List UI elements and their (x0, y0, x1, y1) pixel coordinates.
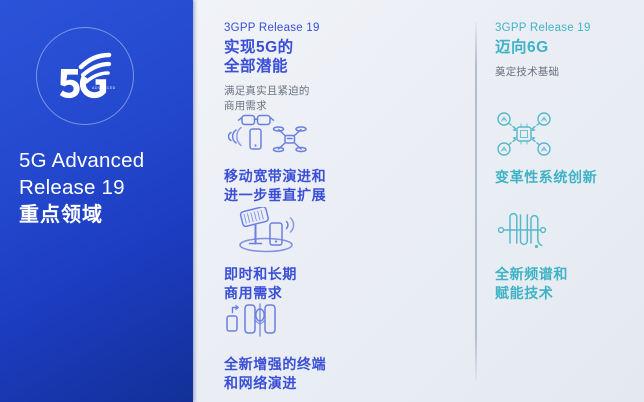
feature-item-mobile-broadband: 移动宽带演进和 进一步垂直扩展 (224, 113, 449, 204)
title-line-1: 5G Advanced (19, 149, 144, 172)
slide-root: ADVANCED 5G Advanced Release 19 重点领域 3GP… (0, 0, 644, 402)
subline-middle: 满足真实且紧迫的 商用需求 (224, 84, 320, 113)
title-line-2: Release 19 (19, 176, 125, 199)
column-header-middle: 3GPP Release 19 实现5G的 全部潜能 满足真实且紧迫的 商用需求 (224, 22, 320, 113)
subline-right: 奠定技术基础 (495, 65, 591, 80)
spectrum-waveform-icon (496, 205, 635, 258)
svg-text:ADVANCED: ADVANCED (92, 86, 116, 90)
label-line2: 进一步垂直扩展 (224, 187, 326, 203)
column-header-right: 3GPP Release 19 迈向6G 奠定技术基础 (495, 22, 591, 80)
label-line1: 全新增强的终端 (224, 356, 326, 372)
eyebrow-right: 3GPP Release 19 (495, 22, 591, 34)
column-release19-5g: 3GPP Release 19 实现5G的 全部潜能 满足真实且紧迫的 商用需求 (224, 0, 449, 402)
feature-label-spectrum-technologies: 全新频谱和 赋能技术 (495, 265, 635, 302)
feature-label-commercial-demand: 即时和长期 商用需求 (224, 265, 449, 302)
feature-label-device-network-evolution: 全新增强的终端 和网络演进 (224, 355, 449, 392)
headline-middle-line2: 全部潜能 (224, 58, 288, 75)
feature-item-commercial-demand: 即时和长期 商用需求 (224, 207, 449, 302)
feature-item-device-network-evolution: 全新增强的终端 和网络演进 (224, 303, 449, 392)
label-line2: 商用需求 (224, 285, 282, 301)
feature-label-system-innovation: 变革性系统创新 (495, 168, 635, 187)
subline-middle-line2: 商用需求 (224, 100, 267, 112)
page-title: 5G Advanced Release 19 重点领域 (19, 147, 194, 229)
headline-right: 迈向6G (495, 38, 591, 57)
subline-right-line1: 奠定技术基础 (495, 66, 559, 78)
ai-chip-network-nodes-icon (496, 112, 635, 161)
title-line-3: 重点领域 (19, 204, 103, 226)
feature-item-spectrum-technologies: 全新频谱和 赋能技术 (495, 205, 635, 302)
label-line1: 全新频谱和 (495, 266, 568, 282)
devices-network-evolution-icon (225, 303, 449, 348)
label-line1: 变革性系统创新 (495, 169, 597, 185)
headline-middle: 实现5G的 全部潜能 (224, 38, 320, 76)
logo-block: ADVANCED (36, 27, 132, 123)
label-line1: 移动宽带演进和 (224, 168, 326, 184)
column-release19-6g: 3GPP Release 19 迈向6G 奠定技术基础 (495, 0, 635, 402)
headline-right-line1: 迈向6G (495, 39, 549, 56)
label-line1: 即时和长期 (224, 266, 297, 282)
column-divider (475, 22, 477, 380)
cell-tower-phone-icon (225, 207, 449, 258)
subline-middle-line1: 满足真实且紧迫的 (224, 85, 310, 97)
feature-item-system-innovation: 变革性系统创新 (495, 112, 635, 187)
label-line2: 赋能技术 (495, 285, 553, 301)
feature-label-mobile-broadband: 移动宽带演进和 进一步垂直扩展 (224, 167, 449, 204)
eyebrow-middle: 3GPP Release 19 (224, 22, 320, 34)
left-title-panel: ADVANCED 5G Advanced Release 19 重点领域 (0, 0, 193, 402)
label-line2: 和网络演进 (224, 375, 297, 391)
5g-advanced-logo-icon: ADVANCED (36, 27, 132, 123)
ar-glasses-phone-drone-icon (225, 113, 449, 160)
headline-middle-line1: 实现5G的 (224, 39, 294, 56)
